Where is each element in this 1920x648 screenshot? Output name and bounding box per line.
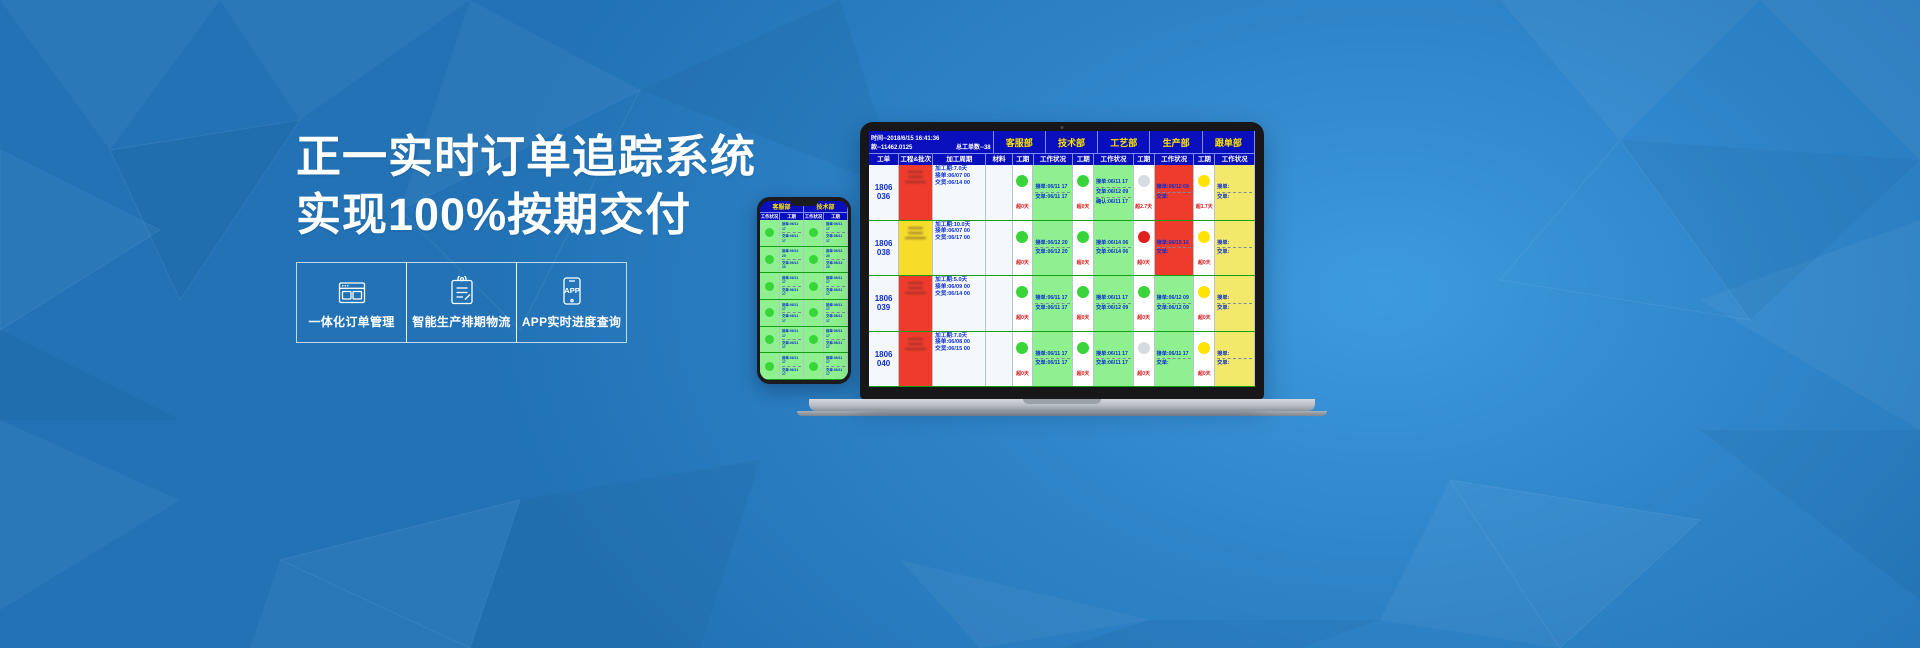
status-timestamp: 交单:06/14 06: [1096, 249, 1131, 256]
status-separator: [826, 286, 845, 287]
status-timestamp: 接单:: [1217, 295, 1252, 302]
status-separator: [1096, 197, 1131, 198]
status-indicator-dot[interactable]: [809, 308, 818, 317]
overdue-tag: 超0天: [1077, 203, 1090, 210]
status-indicator-dot[interactable]: [1077, 286, 1089, 298]
status-timestamp: 交单:06/11 17: [782, 341, 801, 350]
phone-app-icon-text: APP: [564, 286, 579, 295]
dashboard-column-header[interactable]: 工作状况: [1034, 153, 1074, 165]
feature-box-app-tracking[interactable]: APP APP实时进度查询: [516, 262, 627, 343]
status-timestamp: 接单:06/11 17: [1035, 295, 1070, 302]
status-timestamp: 交单:06/11 17: [826, 341, 845, 350]
department-status-cell[interactable]: 接单:06/11 17交单:06/11 17: [1033, 332, 1073, 387]
phone-dashboard-row[interactable]: 接单:06/11 17交单:06/11 17接单:06/11 17交单:06/1…: [760, 327, 848, 354]
phone-column-header[interactable]: 工作状况: [760, 212, 780, 220]
department-duration-cell[interactable]: 超2.7天: [1134, 165, 1155, 220]
feature-box-list: 一体化订单管理 智能生产排期物流 APP APP实时进度查询: [296, 262, 627, 343]
dashboard-column-header[interactable]: 工作状况: [1215, 153, 1255, 165]
processing-cycle-line: 交货:06/15 00: [935, 346, 983, 353]
status-separator: [782, 286, 801, 287]
department-status-cell[interactable]: 接单:06/11 17交单:06/11 17: [1033, 276, 1073, 331]
department-duration-cell[interactable]: 超0天: [1013, 221, 1034, 276]
dashboard-column-header[interactable]: 工期: [1013, 153, 1034, 165]
status-timestamp: 接单:06/11 17: [782, 222, 801, 231]
status-indicator-dot[interactable]: [1198, 231, 1210, 243]
phone-status-cell[interactable]: [804, 273, 824, 299]
status-indicator-dot[interactable]: [1016, 175, 1028, 187]
dashboard-column-header[interactable]: 工作状况: [1155, 153, 1195, 165]
laptop-screen[interactable]: 时间--2018/6/15 16:41:36款--11462.0125总工单数-…: [869, 131, 1255, 387]
dashboard-summary: 款--11462.0125总工单数--38: [871, 142, 991, 151]
department-status-cell[interactable]: 接单:交单:: [1215, 165, 1255, 220]
feature-label-order-management: 一体化订单管理: [308, 313, 394, 330]
status-indicator-dot[interactable]: [765, 228, 774, 237]
order-number-prefix: 1806: [875, 183, 893, 192]
project-batch-cell: [899, 165, 933, 220]
status-timestamp: 接单:06/12 20: [1035, 240, 1070, 247]
overdue-tag: 超0天: [1077, 314, 1090, 321]
status-timestamp: 接单:06/12 20: [826, 249, 845, 258]
laptop-lid: 时间--2018/6/15 16:41:36款--11462.0125总工单数-…: [860, 122, 1264, 399]
status-timestamp: 接单:06/11 17: [1096, 351, 1131, 358]
laptop-camera-icon: [1061, 126, 1064, 129]
phone-dashboard-row[interactable]: 接单:06/12 20交单:06/12 20接单:06/12 20交单:06/1…: [760, 247, 848, 274]
overdue-tag: 超0天: [1016, 203, 1029, 210]
phone-timestamp-cell[interactable]: 接单:06/12 20交单:06/12 20: [780, 247, 804, 273]
phone-app-icon: APP: [561, 276, 583, 306]
phone-dashboard-row[interactable]: 接单:06/11 17交单:06/11 17接单:06/11 17交单:06/1…: [760, 300, 848, 327]
material-cell: [986, 165, 1012, 220]
status-timestamp: 交单:06/11 17: [1035, 194, 1070, 201]
processing-cycle-line: 交货:06/17 00: [935, 235, 983, 242]
status-indicator-dot[interactable]: [1077, 342, 1089, 354]
status-separator: [1035, 192, 1070, 193]
status-timestamp: 交单:06/11 17: [782, 288, 801, 297]
status-timestamp: 接单:06/11 17: [782, 276, 801, 285]
status-timestamp: 交单:: [1217, 249, 1252, 256]
feature-box-order-management[interactable]: 一体化订单管理: [296, 262, 407, 343]
overdue-tag: 超0天: [1077, 259, 1090, 266]
status-indicator-dot[interactable]: [1138, 175, 1150, 187]
phone-status-cell[interactable]: [760, 273, 780, 299]
order-number-suffix: 039: [877, 303, 890, 312]
status-timestamp: 交单:06/12 09: [1096, 189, 1131, 196]
overdue-tag: 超0天: [1198, 259, 1211, 266]
dashboard-department-header[interactable]: 技术部: [1046, 131, 1098, 153]
dashboard-grid: 1806036加工期:7.0天接单:06/07 00交货:06/14 00超0天…: [869, 165, 1255, 387]
dashboard-department-header[interactable]: 客服部: [994, 131, 1046, 153]
status-timestamp: 交单:06/11 17: [782, 234, 801, 243]
status-timestamp: 确认:06/11 17: [1096, 199, 1131, 206]
order-number-suffix: 038: [877, 248, 890, 257]
status-timestamp: 交单:: [1157, 194, 1192, 201]
department-duration-cell[interactable]: 超0天: [1134, 221, 1155, 276]
department-status-cell[interactable]: 接单:06/12 09交单:06/12 09: [1155, 276, 1195, 331]
clipboard-icon: [448, 276, 476, 306]
overdue-tag: 超0天: [1198, 370, 1211, 377]
status-indicator-dot[interactable]: [1198, 175, 1210, 187]
phone-status-cell[interactable]: [804, 353, 824, 379]
project-batch-text: [899, 221, 932, 245]
department-status-cell[interactable]: 接单:交单:: [1215, 332, 1255, 387]
status-timestamp: 接单:06/11 17: [782, 356, 801, 365]
status-indicator-dot[interactable]: [1077, 231, 1089, 243]
dashboard-department-header[interactable]: 生产部: [1150, 131, 1202, 153]
project-batch-text: [899, 165, 932, 189]
status-timestamp: 交单:06/11 17: [782, 314, 801, 323]
processing-cycle-line: 交货:06/14 00: [935, 291, 983, 298]
project-batch-cell: [899, 276, 933, 331]
status-separator: [1035, 303, 1070, 304]
dashboard-row[interactable]: 1806039加工期:5.0天接单:06/09 00交货:06/14 00超0天…: [869, 276, 1255, 332]
dashboard-time: 时间--2018/6/15 16:41:36: [871, 133, 991, 142]
status-timestamp: 接单:06/11 17: [826, 329, 845, 338]
phone-screen[interactable]: 客服部技术部工作状况工期工作状况工期接单:06/11 17交单:06/11 17…: [760, 201, 848, 380]
status-indicator-dot[interactable]: [809, 362, 818, 371]
status-timestamp: 交单:06/11 17: [826, 234, 845, 243]
status-indicator-dot[interactable]: [765, 282, 774, 291]
status-indicator-dot[interactable]: [809, 255, 818, 264]
phone-status-cell[interactable]: [760, 300, 780, 326]
status-separator: [782, 259, 801, 260]
status-indicator-dot[interactable]: [809, 228, 818, 237]
dashboard-department-header[interactable]: 工艺部: [1098, 131, 1150, 153]
status-indicator-dot[interactable]: [1016, 286, 1028, 298]
phone-timestamp-cell[interactable]: 接单:06/12 20交单:06/12 20: [824, 247, 848, 273]
order-number-suffix: 040: [877, 359, 890, 368]
department-status-cell[interactable]: 接单:06/11 17交单:06/11 17: [1033, 165, 1073, 220]
order-number-prefix: 1806: [875, 239, 893, 248]
dashboard-total-orders: 总工单数--38: [956, 142, 991, 151]
feature-label-smart-scheduling: 智能生产排期物流: [412, 313, 510, 330]
status-separator: [1157, 192, 1192, 193]
dashboard-column-header[interactable]: 工期: [1073, 153, 1094, 165]
feature-box-smart-scheduling[interactable]: 智能生产排期物流: [406, 262, 517, 343]
processing-cycle-line: 加工期:5.0天: [935, 277, 983, 284]
phone-column-headers: 工作状况工期工作状况工期: [760, 212, 848, 220]
status-timestamp: 接单:06/11 17: [1096, 179, 1131, 186]
dashboard-column-header[interactable]: 加工周期: [933, 153, 986, 165]
status-indicator-dot[interactable]: [1138, 342, 1150, 354]
status-timestamp: 交单:06/11 17: [826, 368, 845, 377]
dashboard-row[interactable]: 1806038加工期:10.0天接单:06/07 00交货:06/17 00超0…: [869, 221, 1255, 277]
order-number-prefix: 1806: [875, 294, 893, 303]
department-status-cell[interactable]: 接单:交单:: [1215, 276, 1255, 331]
status-timestamp: 交单:: [1157, 360, 1192, 367]
phone-dashboard: 客服部技术部工作状况工期工作状况工期接单:06/11 17交单:06/11 17…: [760, 201, 848, 380]
phone-dashboard-row[interactable]: 接单:06/11 17交单:06/11 17接单:06/11 17交单:06/1…: [760, 273, 848, 300]
dashboard-column-headers: 工单工程&批次加工周期材料工期工作状况工期工作状况工期工作状况工期工作状况: [869, 153, 1255, 165]
department-status-cell[interactable]: 接单:06/12 20交单:06/12 20: [1033, 221, 1073, 276]
overdue-tag: 超2.7天: [1135, 203, 1152, 210]
status-indicator-dot[interactable]: [765, 308, 774, 317]
status-timestamp: 交单:: [1157, 249, 1192, 256]
status-indicator-dot[interactable]: [1077, 175, 1089, 187]
phone-timestamp-cell[interactable]: 接单:06/11 17交单:06/11 17: [824, 353, 848, 379]
department-status-cell[interactable]: 接单:06/11 17交单:06/11 17: [1094, 332, 1134, 387]
phone-column-header[interactable]: 工期: [824, 212, 848, 220]
overdue-tag: 超0天: [1137, 314, 1150, 321]
order-number-cell: 1806036: [869, 165, 899, 220]
status-timestamp: 接单:: [1217, 240, 1252, 247]
phone-notch: [790, 201, 818, 206]
dashboard-column-header[interactable]: 工期: [1194, 153, 1215, 165]
overdue-tag: 超0天: [1016, 259, 1029, 266]
status-timestamp: 交单:06/11 17: [826, 314, 845, 323]
dashboard-department-header[interactable]: 跟单部: [1203, 131, 1255, 153]
phone-dashboard-grid: 接单:06/11 17交单:06/11 17接单:06/11 17交单:06/1…: [760, 220, 848, 380]
processing-cycle-line: 交货:06/14 00: [935, 180, 983, 187]
hero-copy: 正一实时订单追踪系统 实现100%按期交付: [296, 128, 726, 243]
status-timestamp: 交单:06/12 09: [1157, 305, 1192, 312]
processing-cycle-cell: 加工期:10.0天接单:06/07 00交货:06/17 00: [933, 221, 986, 276]
order-number-cell: 1806040: [869, 332, 899, 387]
status-timestamp: 交单:06/12 09: [1096, 305, 1131, 312]
status-indicator-dot[interactable]: [765, 255, 774, 264]
status-timestamp: 接单:06/12 09: [1157, 184, 1192, 191]
overdue-tag: 超0天: [1137, 259, 1150, 266]
status-timestamp: 交单:: [1217, 305, 1252, 312]
phone-timestamp-cell[interactable]: 接单:06/11 17交单:06/11 17: [780, 220, 804, 246]
department-duration-cell[interactable]: 超0天: [1194, 332, 1215, 387]
headline-line-2: 实现100%按期交付: [296, 186, 726, 244]
status-timestamp: 交单:06/11 17: [1096, 360, 1131, 367]
department-duration-cell[interactable]: 超0天: [1013, 332, 1034, 387]
status-separator: [826, 339, 845, 340]
department-duration-cell[interactable]: 超0天: [1073, 221, 1094, 276]
phone-column-header[interactable]: 工作状况: [804, 212, 824, 220]
laptop-mockup: 时间--2018/6/15 16:41:36款--11462.0125总工单数-…: [860, 122, 1327, 416]
dashboard-column-header[interactable]: 工期: [1134, 153, 1155, 165]
phone-status-cell[interactable]: [804, 300, 824, 326]
status-timestamp: 接单:06/11 17: [782, 303, 801, 312]
phone-status-cell[interactable]: [760, 220, 780, 246]
processing-cycle-line: 接单:06/07 00: [935, 173, 983, 180]
phone-status-cell[interactable]: [760, 353, 780, 379]
status-separator: [1157, 303, 1192, 304]
processing-cycle-cell: 加工期:5.0天接单:06/09 00交货:06/14 00: [933, 276, 986, 331]
department-duration-cell[interactable]: 超0天: [1134, 332, 1155, 387]
status-timestamp: 接单:06/11 17: [826, 356, 845, 365]
department-status-cell[interactable]: 接单:06/11 17交单:: [1155, 332, 1195, 387]
project-batch-cell: [899, 332, 933, 387]
status-timestamp: 接单:06/11 17: [1035, 351, 1070, 358]
overdue-tag: 超0天: [1077, 370, 1090, 377]
status-timestamp: 交单:06/12 20: [782, 261, 801, 270]
project-batch-text: [899, 332, 932, 356]
status-timestamp: 接单:06/15 16: [1157, 240, 1192, 247]
status-separator: [1096, 303, 1131, 304]
department-status-cell[interactable]: 接单:06/11 17交单:06/12 09确认:06/11 17: [1094, 165, 1134, 220]
department-duration-cell[interactable]: 超0天: [1073, 165, 1094, 220]
material-cell: [986, 221, 1012, 276]
phone-status-cell[interactable]: [760, 327, 780, 353]
phone-timestamp-cell[interactable]: 接单:06/11 17交单:06/11 17: [780, 327, 804, 353]
department-status-cell[interactable]: 接单:06/11 17交单:06/12 09: [1094, 276, 1134, 331]
status-timestamp: 接单:06/12 20: [782, 249, 801, 258]
department-duration-cell[interactable]: 超1.7天: [1194, 165, 1215, 220]
status-indicator-dot[interactable]: [1016, 342, 1028, 354]
status-timestamp: 交单:06/11 17: [782, 368, 801, 377]
department-duration-cell[interactable]: 超0天: [1073, 276, 1094, 331]
status-timestamp: 接单:06/11 17: [782, 329, 801, 338]
status-timestamp: 接单:06/11 17: [826, 222, 845, 231]
status-timestamp: 交单:06/12 20: [1035, 249, 1070, 256]
dashboard-meta: 时间--2018/6/15 16:41:36款--11462.0125总工单数-…: [869, 131, 994, 153]
material-cell: [986, 276, 1012, 331]
order-tracking-dashboard: 时间--2018/6/15 16:41:36款--11462.0125总工单数-…: [869, 131, 1255, 387]
status-indicator-dot[interactable]: [765, 335, 774, 344]
status-timestamp: 接单:06/12 09: [1157, 295, 1192, 302]
department-duration-cell[interactable]: 超0天: [1073, 332, 1094, 387]
order-number-cell: 1806039: [869, 276, 899, 331]
department-duration-cell[interactable]: 超0天: [1194, 276, 1215, 331]
status-separator: [782, 339, 801, 340]
status-separator: [1096, 187, 1131, 188]
status-indicator-dot[interactable]: [1138, 231, 1150, 243]
status-timestamp: 接单:06/11 17: [1157, 351, 1192, 358]
project-batch-cell: [899, 221, 933, 276]
department-status-cell[interactable]: 接单:06/12 09交单:: [1155, 165, 1195, 220]
order-number-suffix: 036: [877, 192, 890, 201]
overdue-tag: 超0天: [1198, 314, 1211, 321]
status-indicator-dot[interactable]: [809, 282, 818, 291]
order-number-prefix: 1806: [875, 350, 893, 359]
laptop-foot: [797, 411, 1327, 416]
status-indicator-dot[interactable]: [1016, 231, 1028, 243]
phone-column-header[interactable]: 工期: [780, 212, 804, 220]
dashboard-column-header[interactable]: 工程&批次: [899, 153, 933, 165]
status-separator: [782, 366, 801, 367]
status-indicator-dot[interactable]: [1198, 286, 1210, 298]
overdue-tag: 超0天: [1016, 314, 1029, 321]
dashboard-row[interactable]: 1806036加工期:7.0天接单:06/07 00交货:06/14 00超0天…: [869, 165, 1255, 221]
status-timestamp: 接单:06/14 06: [1096, 240, 1131, 247]
phone-status-cell[interactable]: [804, 220, 824, 246]
phone-dashboard-row[interactable]: 接单:06/11 17交单:06/11 17接单:06/11 17交单:06/1…: [760, 220, 848, 247]
processing-cycle-cell: 加工期:7.0天接单:06/08 00交货:06/15 00: [933, 332, 986, 387]
phone-timestamp-cell[interactable]: 接单:06/11 17交单:06/11 17: [824, 273, 848, 299]
order-number-cell: 1806038: [869, 221, 899, 276]
project-batch-text: [899, 276, 932, 300]
processing-cycle-line: 加工期:7.0天: [935, 166, 983, 173]
status-separator: [1217, 192, 1252, 193]
overdue-tag: 超0天: [1137, 370, 1150, 377]
phone-dashboard-row[interactable]: 接单:06/11 17交单:06/11 17接单:06/11 17交单:06/1…: [760, 353, 848, 380]
status-timestamp: 交单:06/12 20: [826, 261, 845, 270]
status-indicator-dot[interactable]: [1138, 286, 1150, 298]
headline-line-1: 正一实时订单追踪系统: [296, 128, 726, 186]
smartphone-mockup: 客服部技术部工作状况工期工作状况工期接单:06/11 17交单:06/11 17…: [757, 197, 851, 384]
dashboard-amount: 款--11462.0125: [871, 142, 912, 151]
phone-status-cell[interactable]: [760, 247, 780, 273]
department-status-cell[interactable]: 接单:06/14 06交单:06/14 06: [1094, 221, 1134, 276]
processing-cycle-line: 接单:06/09 00: [935, 284, 983, 291]
status-timestamp: 交单:06/11 17: [826, 288, 845, 297]
status-timestamp: 接单:06/11 17: [826, 303, 845, 312]
status-separator: [826, 366, 845, 367]
phone-timestamp-cell[interactable]: 接单:06/11 17交单:06/11 17: [824, 300, 848, 326]
dashboard-column-header[interactable]: 材料: [986, 153, 1013, 165]
department-status-cell[interactable]: 接单:交单:: [1215, 221, 1255, 276]
department-duration-cell[interactable]: 超0天: [1013, 276, 1034, 331]
material-cell: [986, 332, 1012, 387]
dashboard-header: 时间--2018/6/15 16:41:36款--11462.0125总工单数-…: [869, 131, 1255, 153]
overdue-tag: 超1.7天: [1196, 203, 1213, 210]
laptop-base: [809, 399, 1315, 411]
status-timestamp: 交单:06/11 17: [1035, 305, 1070, 312]
status-indicator-dot[interactable]: [809, 335, 818, 344]
processing-cycle-cell: 加工期:7.0天接单:06/07 00交货:06/14 00: [933, 165, 986, 220]
dashboard-column-header[interactable]: 工作状况: [1094, 153, 1134, 165]
phone-timestamp-cell[interactable]: 接单:06/11 17交单:06/11 17: [824, 220, 848, 246]
phone-timestamp-cell[interactable]: 接单:06/11 17交单:06/11 17: [824, 327, 848, 353]
status-timestamp: 接单:: [1217, 184, 1252, 191]
dashboard-column-header[interactable]: 工单: [869, 153, 899, 165]
status-timestamp: 交单:06/11 17: [1035, 360, 1070, 367]
department-duration-cell[interactable]: 超0天: [1194, 221, 1215, 276]
status-indicator-dot[interactable]: [765, 362, 774, 371]
status-timestamp: 交单:: [1217, 194, 1252, 201]
status-timestamp: 交单:: [1217, 360, 1252, 367]
order-window-icon: [337, 276, 367, 306]
status-timestamp: 接单:06/11 17: [826, 276, 845, 285]
dashboard-row[interactable]: 1806040加工期:7.0天接单:06/08 00交货:06/15 00超0天…: [869, 332, 1255, 388]
feature-label-app-tracking: APP实时进度查询: [522, 313, 621, 330]
status-timestamp: 接单:06/11 17: [1035, 184, 1070, 191]
status-separator: [826, 259, 845, 260]
department-duration-cell[interactable]: 超0天: [1134, 276, 1155, 331]
department-duration-cell[interactable]: 超0天: [1013, 165, 1034, 220]
phone-status-cell[interactable]: [804, 247, 824, 273]
phone-status-cell[interactable]: [804, 327, 824, 353]
status-timestamp: 接单:06/11 17: [1096, 295, 1131, 302]
status-separator: [1217, 303, 1252, 304]
phone-timestamp-cell[interactable]: 接单:06/11 17交单:06/11 17: [780, 353, 804, 379]
status-timestamp: 接单:: [1217, 351, 1252, 358]
status-indicator-dot[interactable]: [1198, 342, 1210, 354]
overdue-tag: 超0天: [1016, 370, 1029, 377]
phone-timestamp-cell[interactable]: 接单:06/11 17交单:06/11 17: [780, 300, 804, 326]
phone-timestamp-cell[interactable]: 接单:06/11 17交单:06/11 17: [780, 273, 804, 299]
department-status-cell[interactable]: 接单:06/15 16交单:: [1155, 221, 1195, 276]
